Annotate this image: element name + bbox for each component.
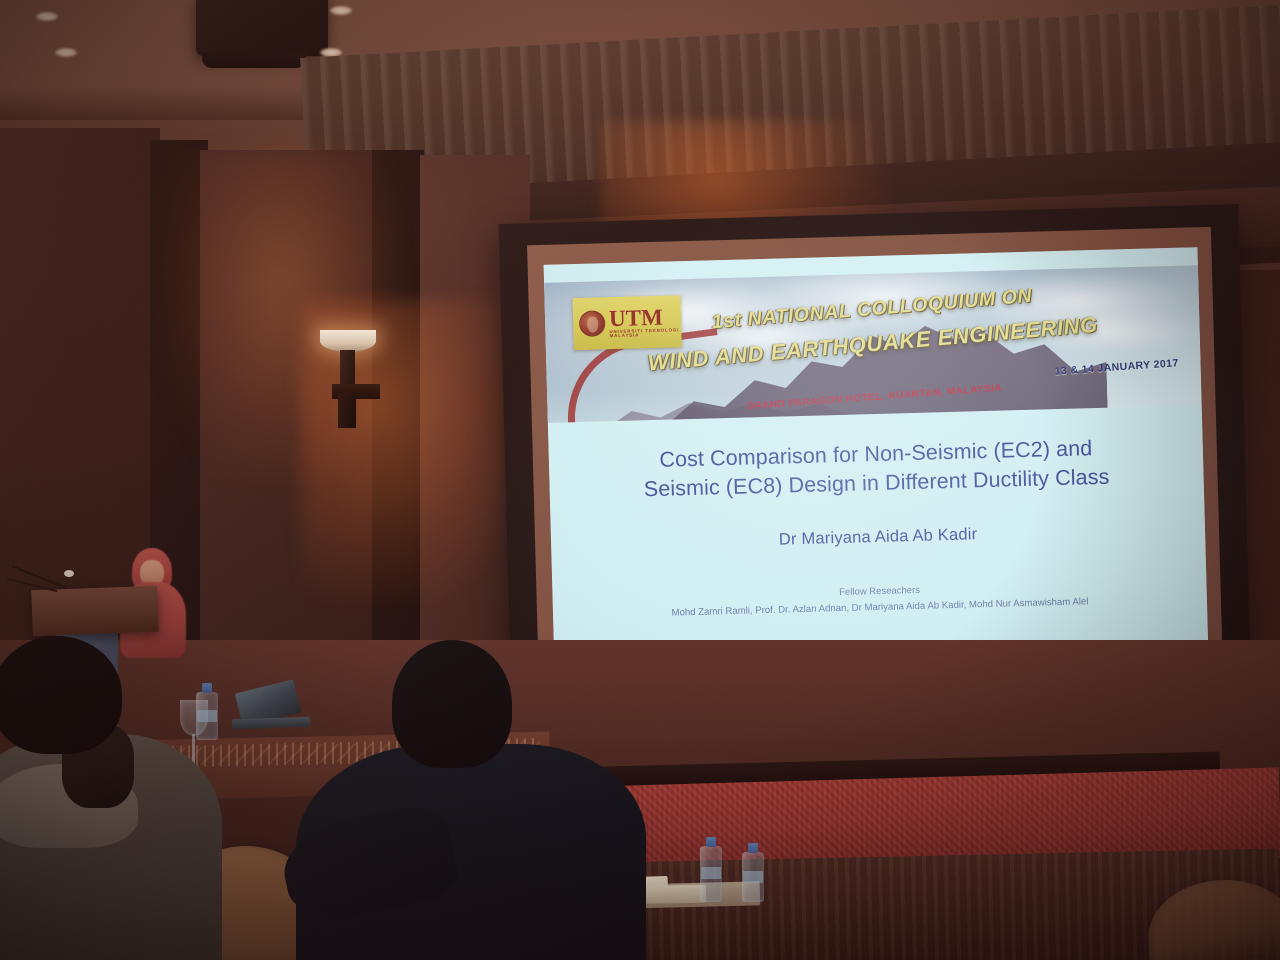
ceiling-light — [330, 6, 352, 15]
lectern-podium — [31, 586, 159, 636]
utm-crest-icon — [579, 310, 606, 337]
sconce-backplate — [338, 394, 356, 428]
photo-scene: 1st NATIONAL COLLOQUIUM ON WIND AND EART… — [0, 0, 1280, 960]
audience-member-left — [0, 636, 220, 960]
audience-left-head — [0, 636, 122, 754]
ceiling-light — [55, 48, 77, 57]
slide-title: Cost Comparison for Non-Seismic (EC2) an… — [577, 432, 1176, 507]
water-bottle — [742, 852, 764, 902]
utm-wordmark: UTMUNIVERSITI TEKNOLOGI MALAYSIA — [609, 306, 682, 338]
slide-presenter-name: Dr Mariyana Aida Ab Kadir — [579, 520, 1177, 555]
wall-sconce-lamp — [316, 330, 386, 430]
ceiling-light — [36, 12, 58, 21]
ceiling-speaker — [196, 0, 328, 56]
slide-banner: 1st NATIONAL COLLOQUIUM ON WIND AND EART… — [544, 265, 1202, 423]
sconce-shade — [320, 330, 376, 352]
audience-member-center — [356, 640, 646, 960]
microphone-capsule — [64, 570, 74, 577]
audience-center-head — [392, 640, 512, 768]
sconce-neck — [340, 350, 355, 388]
utm-logo-subtext: UNIVERSITI TEKNOLOGI MALAYSIA — [609, 328, 681, 338]
water-bottle — [700, 846, 722, 902]
utm-logo: UTMUNIVERSITI TEKNOLOGI MALAYSIA — [573, 295, 682, 350]
